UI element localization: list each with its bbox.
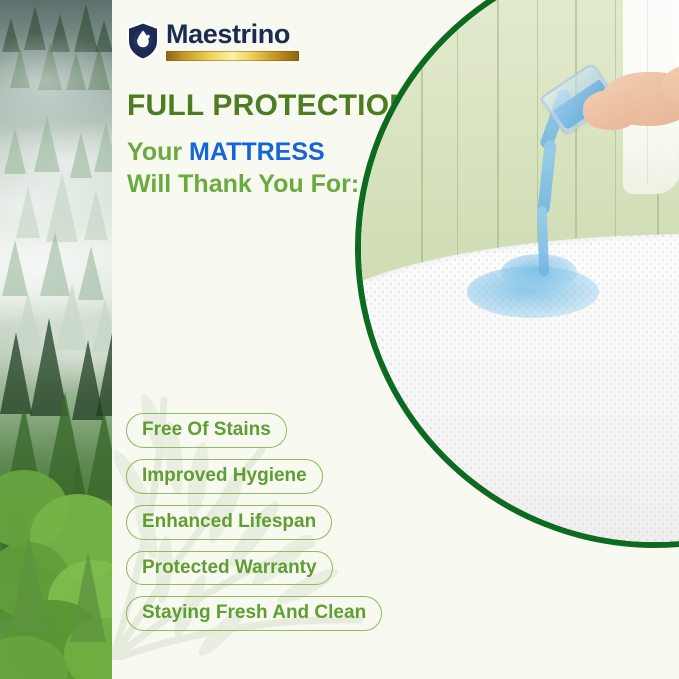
feature-pill[interactable]: Free Of Stains (126, 413, 287, 448)
brand-name: Maestrino (166, 20, 299, 48)
shield-check-droplet-icon (126, 21, 160, 61)
brand-logo: Maestrino (126, 20, 299, 61)
feature-pill[interactable]: Improved Hygiene (126, 459, 323, 494)
feature-pill[interactable]: Protected Warranty (126, 551, 333, 586)
feature-pill-list: Free Of Stains Improved Hygiene Enhanced… (126, 413, 382, 642)
feature-pill[interactable]: Enhanced Lifespan (126, 505, 332, 540)
gold-underline-bar (166, 51, 299, 61)
headline-highlight-mattress: MATTRESS (189, 138, 325, 166)
forest-image-strip (0, 0, 112, 679)
hand-icon (583, 90, 641, 130)
feature-pill[interactable]: Staying Fresh And Clean (126, 596, 382, 631)
product-poster: Maestrino FULL PROTECTION Your MATTRESS … (0, 0, 679, 679)
bedroom-scene (361, 0, 679, 542)
headline-line-2-prefix: Your (127, 138, 189, 166)
product-photo-circle (355, 0, 679, 548)
